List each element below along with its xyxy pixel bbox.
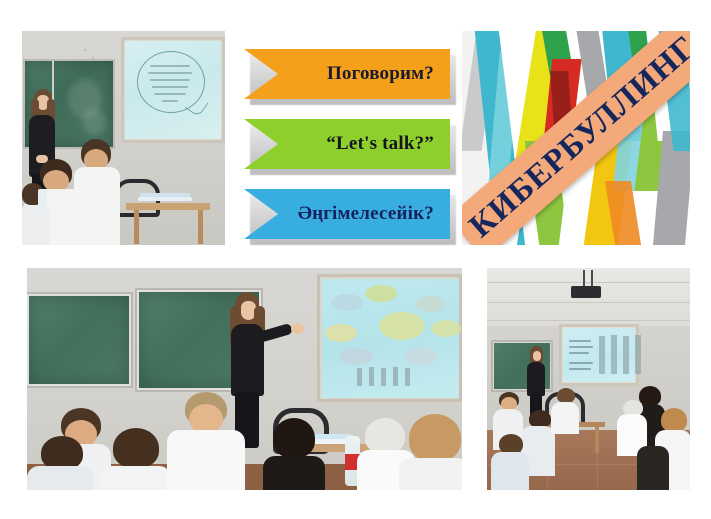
slide-figure: [369, 367, 374, 386]
books-on-desk: [138, 197, 192, 201]
desk-leg: [134, 210, 139, 244]
student-body: [27, 466, 93, 490]
student-figure: [99, 428, 171, 490]
student-body: [167, 430, 245, 490]
slogan-bar-label-kk: Әңгімелесейік?: [244, 189, 450, 239]
ceiling-projector: [571, 286, 601, 298]
slide-text-line: [569, 352, 589, 354]
student-figure: [637, 446, 669, 490]
mindmap-node: [415, 296, 445, 312]
student-body: [551, 402, 579, 434]
student-body: [491, 452, 529, 490]
slide-figure: [611, 335, 617, 374]
student-hair: [661, 408, 687, 432]
slogan-bar-kk[interactable]: Әңгімелесейік?: [244, 189, 450, 241]
student-body: [99, 466, 171, 490]
student-hair: [499, 434, 523, 454]
slide-text-line: [569, 346, 593, 348]
slide-text-line: [148, 72, 192, 74]
student-figure: [27, 436, 93, 490]
ceiling-line: [487, 282, 690, 283]
mindmap-node: [405, 348, 437, 365]
slide-text-line: [569, 368, 591, 370]
teacher-hand: [291, 323, 304, 334]
collage-canvas: Поговорим? “Let's talk?” Әңгімелесейік?: [0, 0, 711, 519]
photo-classroom-teacher-pointing: [27, 268, 462, 490]
slide-figure: [405, 368, 410, 386]
slide-figure: [623, 336, 629, 374]
wall-speck: [84, 49, 86, 51]
student-figure: [399, 414, 462, 490]
mindmap-node: [331, 294, 363, 311]
desk-leg: [595, 427, 599, 453]
mindmap-node: [365, 285, 397, 302]
slogan-arrow-panel: Поговорим? “Let's talk?” Әңгімелесейік?: [244, 31, 476, 245]
chalkboard: [29, 296, 129, 384]
teacher-figure: [525, 346, 547, 418]
slide-figure: [393, 367, 398, 386]
student-body: [263, 456, 325, 490]
student-body: [399, 458, 462, 490]
student-hair: [409, 414, 461, 462]
slide-text-line: [569, 362, 593, 364]
chalk-smudge: [82, 109, 106, 135]
student-figure: [491, 434, 529, 490]
slide-figure: [381, 368, 386, 386]
student-figure: [551, 388, 579, 434]
student-figure: [167, 392, 245, 490]
student-hair: [557, 388, 575, 403]
cyberbullying-poster: КИБЕРБУЛЛИНГ: [462, 31, 690, 245]
student-hair: [113, 428, 159, 468]
ceiling-line: [487, 302, 690, 303]
teacher-body: [527, 362, 545, 396]
slide-text-line: [569, 340, 591, 342]
slogan-bar-label-ru: Поговорим?: [244, 49, 450, 99]
slide-figure: [599, 336, 605, 374]
slide-figure: [357, 368, 362, 386]
slogan-bar-label-en: “Let's talk?”: [244, 119, 450, 169]
photo-classroom-wide-view: [487, 268, 690, 490]
student-body: [637, 446, 669, 490]
projector-wire: [583, 270, 585, 287]
photo-classroom-teacher-at-board: [22, 31, 225, 245]
desk-top: [126, 203, 210, 210]
mindmap-node-center: [379, 312, 425, 340]
mindmap-node: [325, 324, 357, 342]
water-bottle: [38, 189, 47, 215]
mindmap-node: [339, 348, 373, 365]
student-hair: [273, 418, 315, 458]
ceiling-line: [487, 320, 690, 321]
projector-wire: [591, 270, 593, 287]
student-hair: [41, 436, 83, 470]
slide-text-line: [150, 79, 190, 81]
slide-text-line: [150, 65, 190, 67]
slide-text-line: [154, 93, 186, 95]
teacher-face: [533, 351, 541, 361]
slide-text-line: [152, 86, 188, 88]
student-figure: [263, 418, 325, 490]
slogan-bar-en[interactable]: “Let's talk?”: [244, 119, 450, 171]
mindmap-node: [431, 320, 461, 337]
slide-figure: [635, 335, 641, 374]
desk-leg: [198, 210, 203, 244]
slide-text-line: [162, 100, 178, 102]
slogan-bar-ru[interactable]: Поговорим?: [244, 49, 450, 101]
